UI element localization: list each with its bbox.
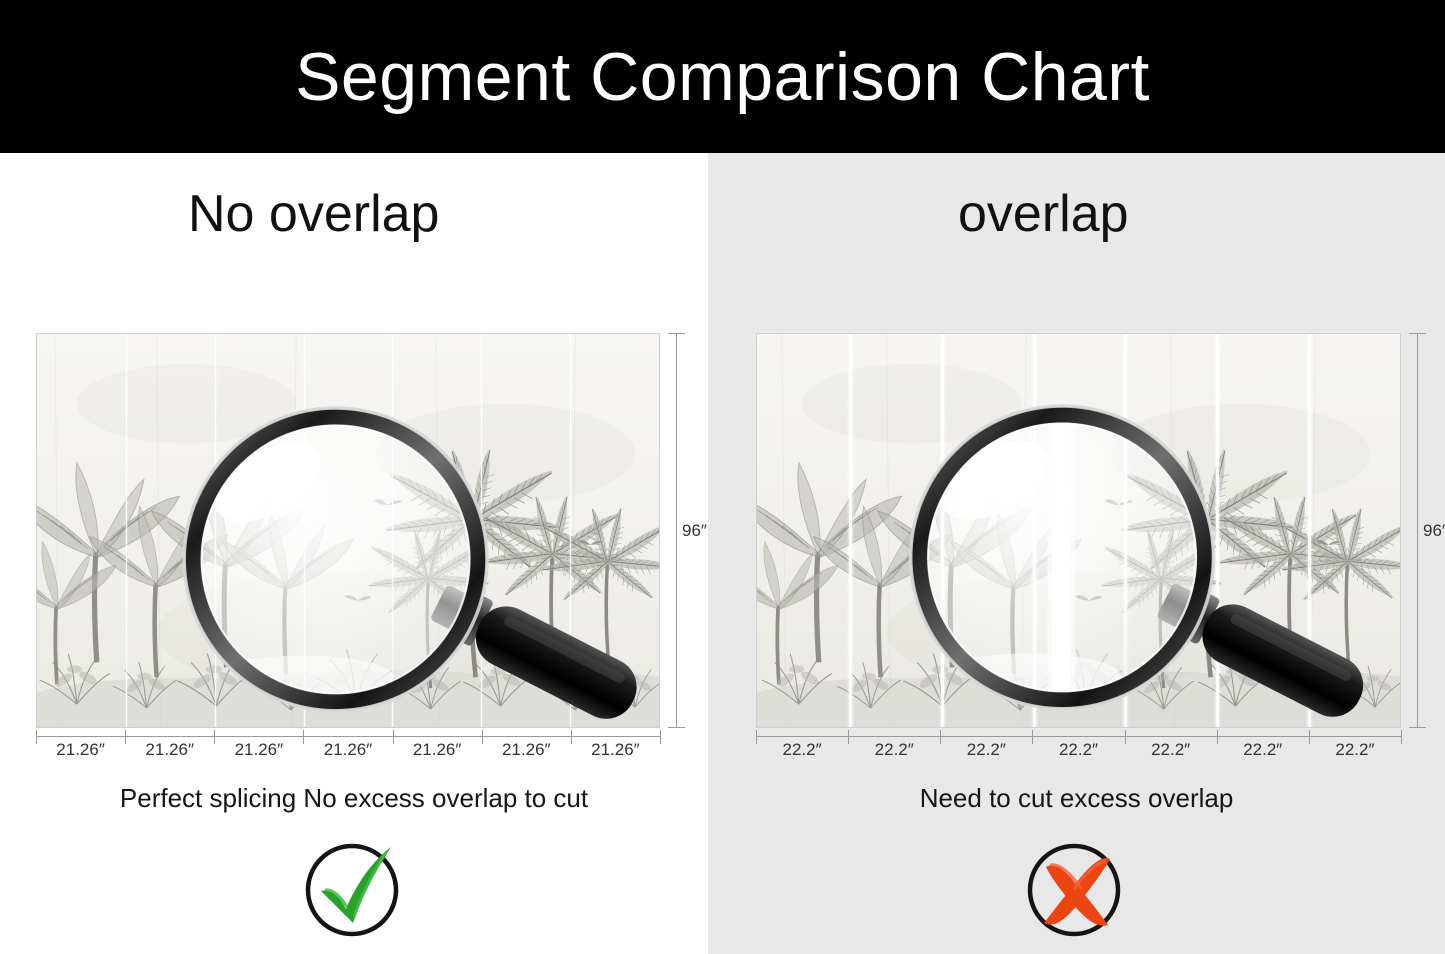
segment-label: 22.2″ [756, 740, 848, 760]
tropical-mural-artwork-right [757, 334, 1400, 727]
segment-label: 22.2″ [1309, 740, 1401, 760]
panel-no-overlap: No overlap [0, 153, 708, 954]
mural-figure-overlap: 22.2″ 22.2″ 22.2″ 22.2″ 22.2″ 22.2″ 22.2… [756, 333, 1401, 728]
segment-label: 21.26″ [125, 740, 214, 760]
comparison-panels: No overlap [0, 153, 1445, 954]
mural-image-no-overlap [36, 333, 660, 728]
segment-label: 21.26″ [36, 740, 125, 760]
dimension-line [36, 736, 660, 737]
tropical-mural-artwork-left [37, 334, 659, 727]
segment-labels-overlap: 22.2″ 22.2″ 22.2″ 22.2″ 22.2″ 22.2″ 22.2… [756, 740, 1401, 760]
verdict-no-overlap [0, 833, 708, 943]
segment-comparison-chart: Segment Comparison Chart No overlap [0, 0, 1445, 954]
mural-figure-no-overlap: 21.26″ 21.26″ 21.26″ 21.26″ 21.26″ 21.26… [36, 333, 660, 728]
segment-label: 21.26″ [303, 740, 392, 760]
segment-label: 22.2″ [1217, 740, 1309, 760]
height-label: 96″ [682, 521, 707, 541]
segment-label: 22.2″ [1032, 740, 1124, 760]
check-mark-icon [299, 833, 409, 943]
title-banner: Segment Comparison Chart [0, 0, 1445, 153]
panel-overlap: overlap [708, 153, 1445, 954]
segment-label: 22.2″ [940, 740, 1032, 760]
dimension-line [756, 736, 1401, 737]
segment-label: 22.2″ [1125, 740, 1217, 760]
segment-label: 21.26″ [214, 740, 303, 760]
caption-no-overlap: Perfect splicing No excess overlap to cu… [0, 783, 708, 814]
verdict-overlap [708, 833, 1445, 943]
segment-label: 22.2″ [848, 740, 940, 760]
mural-image-overlap [756, 333, 1401, 728]
page-title: Segment Comparison Chart [295, 43, 1150, 111]
segment-label: 21.26″ [393, 740, 482, 760]
panel-heading-no-overlap: No overlap [188, 188, 439, 240]
segment-labels-no-overlap: 21.26″ 21.26″ 21.26″ 21.26″ 21.26″ 21.26… [36, 740, 660, 760]
panel-heading-overlap: overlap [958, 188, 1129, 240]
segment-label: 21.26″ [571, 740, 660, 760]
cross-mark-icon [1022, 833, 1132, 943]
height-label: 96″ [1423, 521, 1445, 541]
caption-overlap: Need to cut excess overlap [708, 783, 1445, 814]
segment-label: 21.26″ [482, 740, 571, 760]
